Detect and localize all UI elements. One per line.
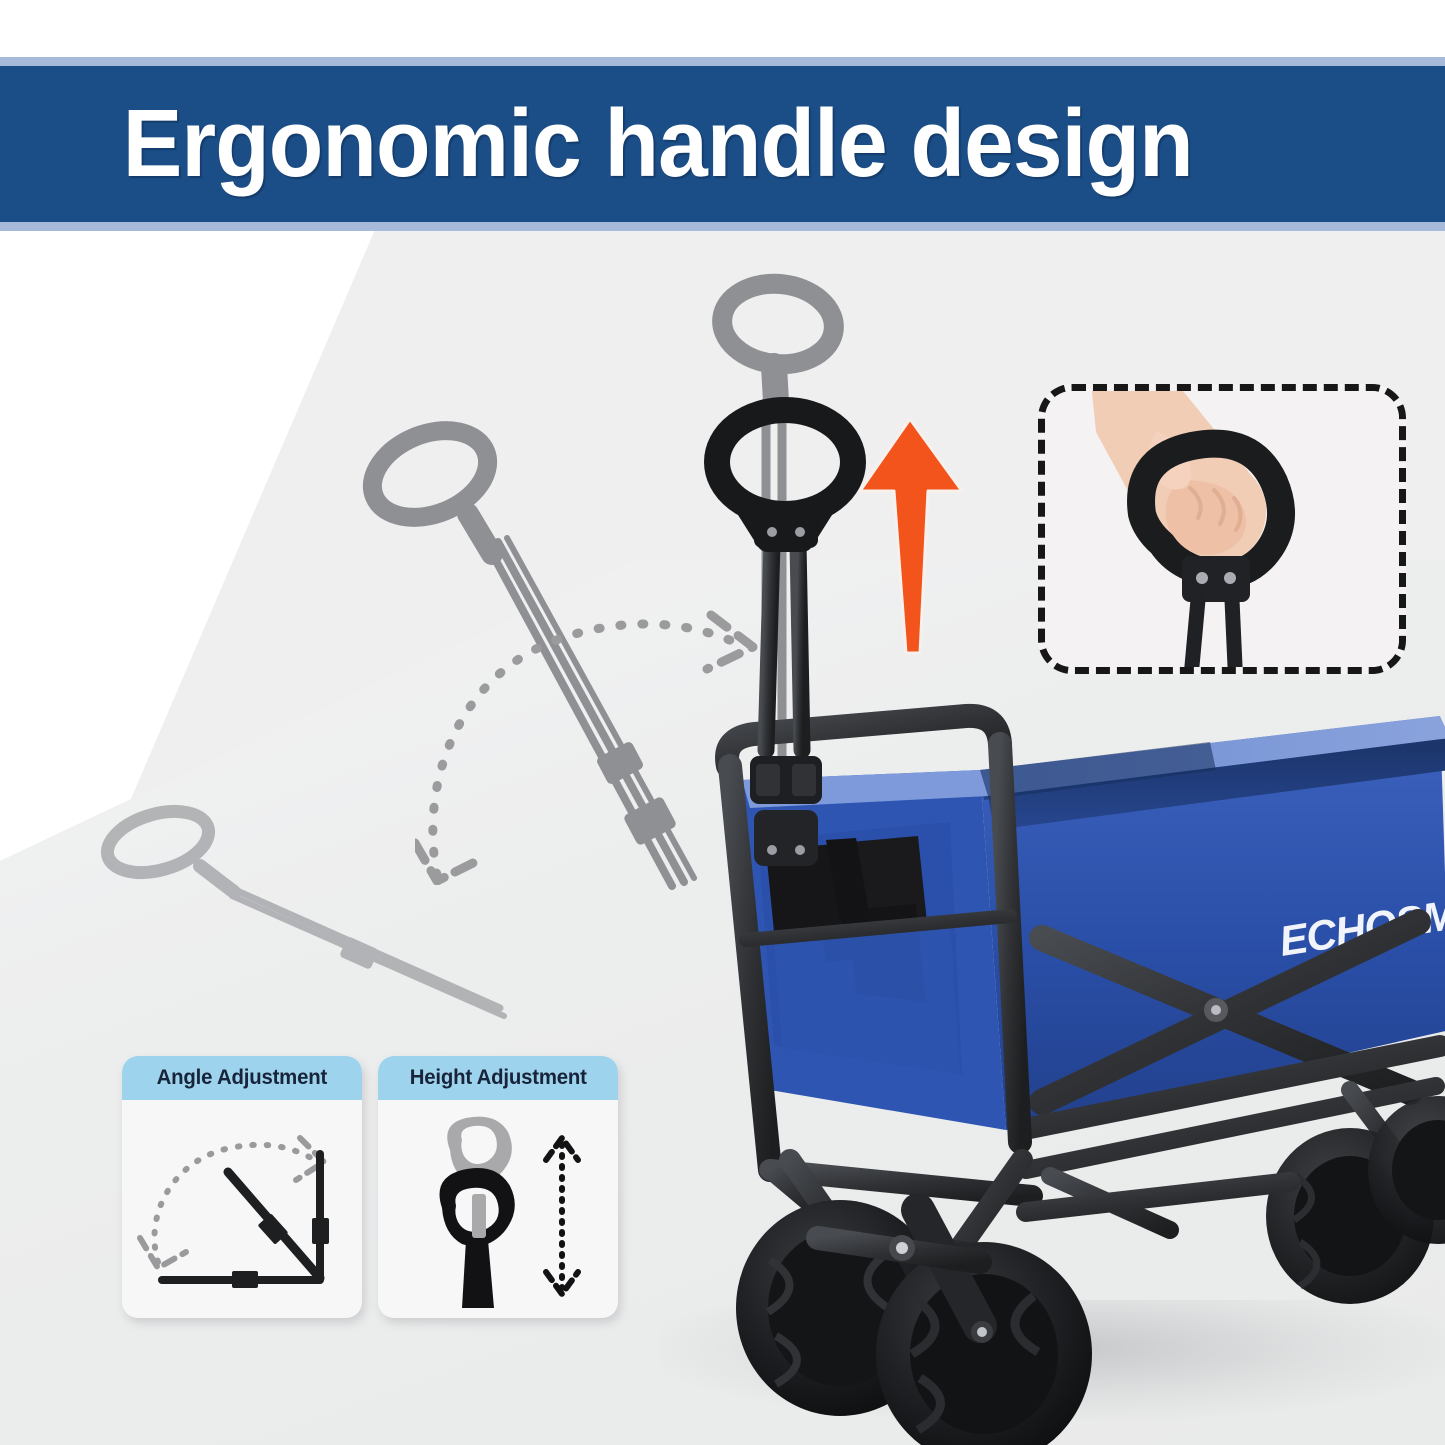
card-angle-adjustment[interactable]: Angle Adjustment [122, 1056, 362, 1318]
hand-grip-inset [1038, 384, 1406, 674]
card-height-label: Height Adjustment [409, 1066, 586, 1090]
height-arrow-icon [390, 1110, 606, 1308]
card-angle-header: Angle Adjustment [122, 1056, 362, 1100]
card-height-adjustment[interactable]: Height Adjustment [378, 1056, 618, 1318]
page-title: Ergonomic handle design [0, 96, 1193, 192]
card-angle-label: Angle Adjustment [157, 1066, 327, 1090]
feature-cards: Angle Adjustment [122, 1056, 618, 1318]
banner-top-border [0, 57, 1445, 66]
banner-bottom-border [0, 222, 1445, 231]
card-height-header: Height Adjustment [378, 1056, 618, 1100]
angle-arc-icon [134, 1110, 350, 1308]
card-height-body [378, 1100, 618, 1318]
banner-body: Ergonomic handle design [0, 66, 1445, 222]
header-banner: Ergonomic handle design [0, 57, 1445, 231]
card-angle-body [122, 1100, 362, 1318]
infographic-page: Ergonomic handle design [0, 0, 1445, 1445]
hand-grip-illustration [1038, 384, 1406, 674]
